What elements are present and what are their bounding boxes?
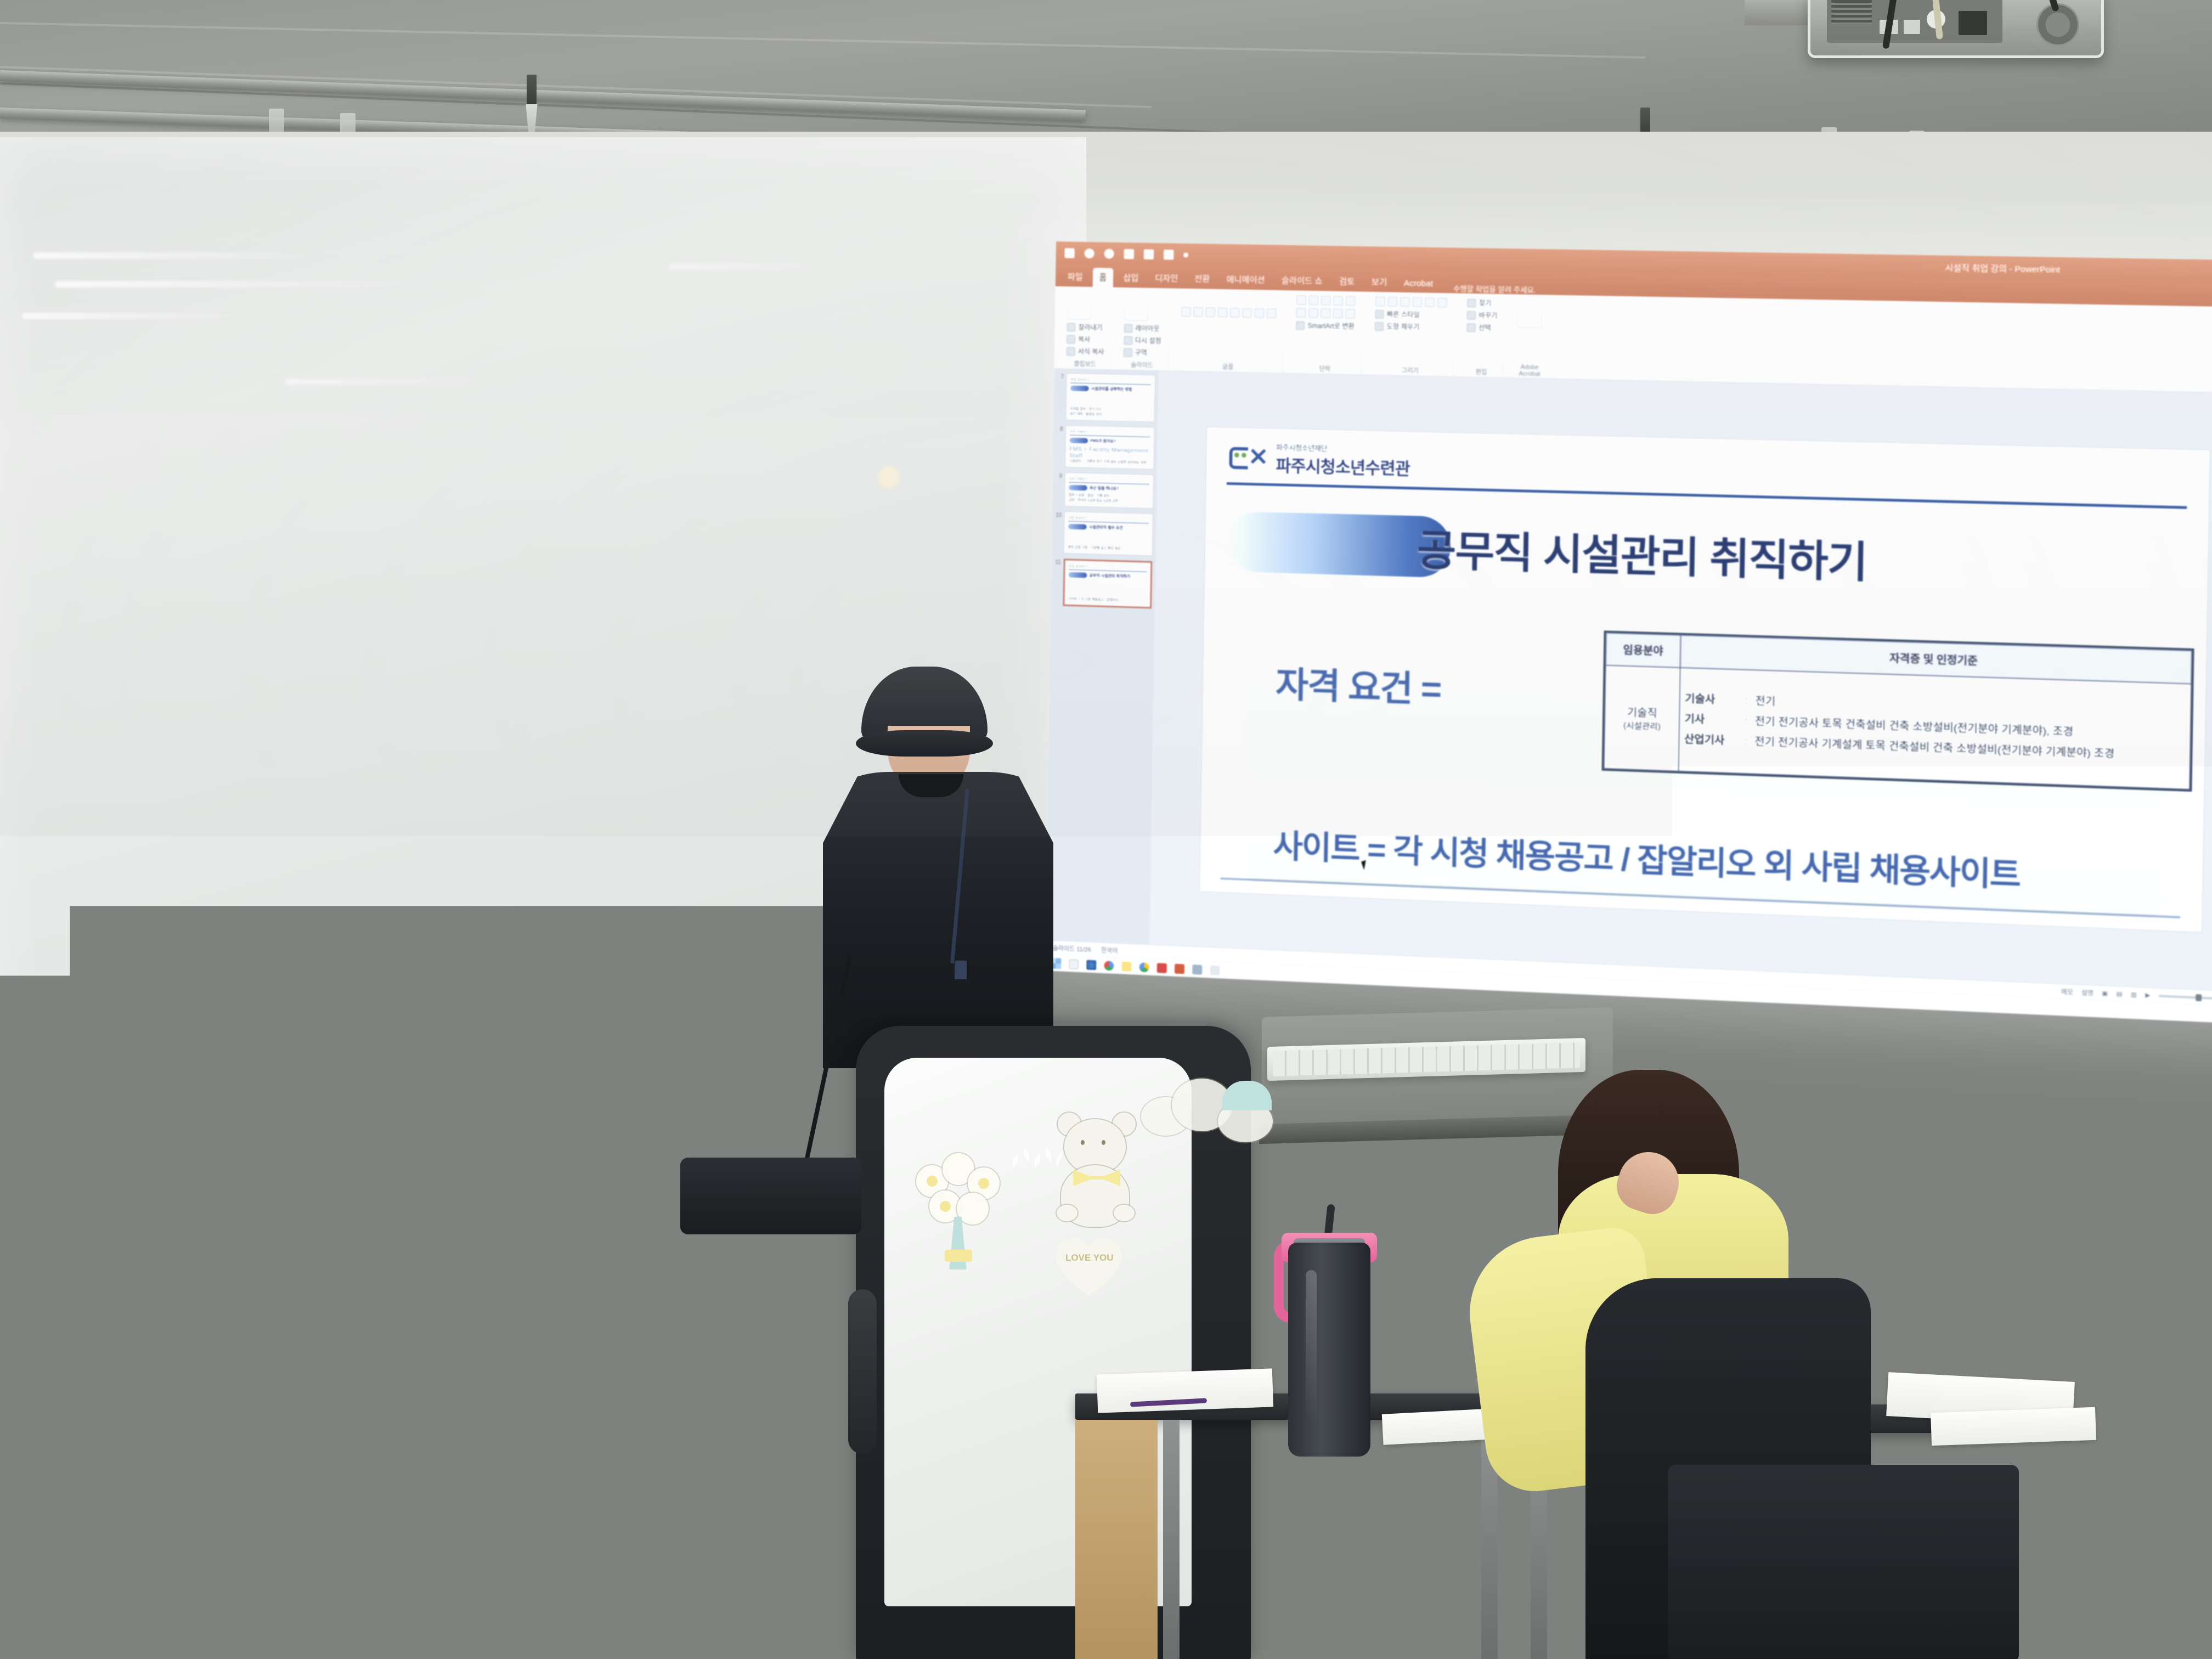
tell-me-box[interactable]: 수행할 작업을 알려 주세요. [1453,283,1536,295]
ribbon-group-label: 글꼴 [1173,361,1283,372]
ribbon-group-acrobat: Adobe Acrobat [1510,298,1551,379]
heart-shape [1048,1231,1130,1297]
thumbnail-header: 직무 이해하기 [1069,429,1150,437]
justify-icon[interactable] [1333,308,1344,319]
thumbnail-title: 시설관리를 공부하는 방법 [1091,386,1132,392]
tab-acrobat[interactable]: Acrobat [1397,275,1440,293]
papers[interactable] [1097,1368,1273,1413]
ribbon-group-label: 슬라이드 [1116,360,1167,370]
increase-indent-icon[interactable] [1333,296,1344,306]
jacket-on-chair [680,1158,861,1234]
ribbon-group-label: 단락 [1289,364,1362,374]
quick-styles-button[interactable]: 빠른 스타일 [1375,309,1447,320]
qualification-table[interactable]: 임용분야 자격증 및 인정기준 기술직 (시설관리) [1602,630,2194,792]
colon-separator: : [1745,712,1751,732]
file-explorer-icon[interactable] [1069,959,1079,969]
thumbnail-title-row: 공무직 시설관리 취직하기 [1068,572,1147,580]
whiteboard-marker[interactable] [176,1121,236,1130]
projector-vent-icon [1831,0,1872,24]
bold-icon[interactable] [1181,307,1191,317]
thumbnail-title-row: 시설관리를 공부하는 방법 [1070,386,1152,393]
colon-separator: : [1744,732,1750,752]
replace-icon [1467,311,1476,320]
thumbnail-content-block [1070,394,1151,407]
smartart-icon [1296,321,1305,330]
podium-speaker-grille-icon [848,1289,877,1454]
tab-file[interactable]: 파일 [1061,267,1090,287]
zoom-slider[interactable] [2159,995,2212,1000]
projector-mount [1745,0,1810,25]
slideshow-icon[interactable]: ▶ [2145,991,2150,999]
ribbon-group-slides: 레이아웃 다시 설정 구역 슬라이드 [1116,291,1169,370]
whiteboard-glare [55,281,439,287]
cloud-sticker [1141,1075,1284,1174]
shape-circle-icon[interactable] [1387,297,1398,307]
table-row: 기술직 (시설관리) 기술사 : 전기 [1604,665,2191,789]
align-left-icon[interactable] [1296,308,1306,318]
logo-dot [1242,453,1246,458]
slide-editing-stage[interactable]: ✕ 파주시청소년재단 파주시청소년수련관 공무직 시설관리 취직하기 자격 요 [1149,371,2212,992]
cap-brim [856,730,993,757]
logo-dot [1234,452,1239,457]
calculator-icon[interactable] [1210,965,1220,975]
quick-style-icon [1375,309,1384,319]
slide-thumbnail[interactable]: 면접 준비하기 시설관리를 공부하는 방법 자격증 준비 - 전기기사 실기 대… [1066,373,1155,422]
logo-maintext: 파주시청소년수련관 [1276,452,1410,479]
slide-title-area[interactable]: 공무직 시설관리 취직하기 [1226,511,1867,590]
slide-thumbnail[interactable]: 직무 이해하기 FMS가 뭔가요? FMS = Facility Managem… [1065,425,1155,469]
logo-text-block: 파주시청소년재단 파주시청소년수련관 [1276,441,1410,479]
comments-button[interactable]: 설명 [2081,988,2093,997]
present-icon[interactable] [1124,249,1134,259]
chrome-alt-icon[interactable] [1139,962,1149,972]
heart-sticker-text: LOVE YOU [1065,1253,1114,1263]
powerpoint-workspace: 7 면접 준비하기 시설관리를 공부하는 방법 자격증 준비 - 전기기사 실기… [1045,369,2212,992]
student-chair[interactable] [1668,1465,2019,1659]
site-panel[interactable]: 사이트 = 각 시청 채용공고 / 잡알리오 외 사립 채용사이트 [1239,793,2168,919]
ribbon-group-label: 그리기 [1367,365,1453,376]
thumbnail-number: 8 [1057,425,1063,432]
slide-thumbnail-selected[interactable]: 취업 준비하기 공무직 시설관리 취직하기 사이트 = 각 시청 채용공고 / … [1063,558,1153,608]
font-color-icon[interactable] [1266,308,1277,318]
thumbnail-line: 경력 인정 기준 - 기관별 공고 확인 필요 [1068,545,1148,552]
tab-insert[interactable]: 삽입 [1116,268,1145,288]
papers[interactable] [1931,1407,2096,1446]
title-pill-shape [1069,438,1088,444]
projector [1808,0,2104,58]
decrease-indent-icon[interactable] [1321,296,1331,306]
table-cell-criteria: 기술사 : 전기 기사 : 전기 전기공사 토목 건축설비 건축 소방설비(전기… [1679,668,2192,789]
character-spacing-icon[interactable] [1242,308,1252,318]
align-right-icon[interactable] [1321,308,1331,319]
tab-animations[interactable]: 애니메이션 [1220,270,1272,290]
cloud-teal-accent [1222,1081,1272,1110]
convert-to-smartart-button[interactable]: SmartArt로 변환 [1296,320,1355,331]
notes-button[interactable]: 메모 [2061,987,2073,997]
word-icon[interactable] [1192,964,1202,975]
rail-hanger-clip [527,75,537,106]
zoom-slider-handle[interactable] [2196,994,2202,1001]
title-pill-shape [1069,485,1087,491]
picture-icon[interactable] [1144,250,1154,259]
select-icon [1466,323,1476,332]
title-pill-shape [1068,572,1087,578]
find-button[interactable]: 찾기 [1467,298,1498,308]
edge-icon[interactable] [1086,960,1096,970]
cut-button[interactable]: 잘라내기 [1066,322,1104,332]
thumbnail-line: FMS = Facility Management Staff [1069,446,1150,461]
copy-button[interactable]: 복사 [1066,334,1104,344]
tumbler-body [1288,1243,1370,1457]
format-painter-button[interactable]: 서식 복사 [1066,346,1104,356]
align-center-icon[interactable] [1308,308,1319,318]
select-button[interactable]: 선택 [1466,323,1497,332]
thumbnail-table-block [1068,580,1147,597]
table-cell-field: 기술직 (시설관리) [1604,665,1680,771]
title-pill-shape [1070,386,1089,392]
logo-x-mark: ✕ [1248,446,1271,471]
ribbon-group-drawing: 빠른 스타일 도형 채우기 그리기 [1367,295,1454,376]
search-icon [1467,298,1476,308]
paragraph-buttons-row2[interactable] [1296,308,1355,319]
numbering-icon[interactable] [1308,295,1319,306]
tab-home[interactable]: 홈 [1092,268,1113,287]
fill-bucket-icon [1375,321,1384,331]
thumbnail-number: 7 [1057,373,1064,380]
chrome-icon[interactable] [1104,960,1114,970]
slide-thumbnail-pane[interactable]: 7 면접 준비하기 시설관리를 공부하는 방법 자격증 준비 - 전기기사 실기… [1045,369,1159,945]
certificate-name: 기사 [1684,709,1740,731]
normal-view-icon[interactable]: ▣ [2102,990,2108,997]
change-case-icon[interactable] [1254,308,1265,318]
italic-icon[interactable] [1193,307,1203,317]
acrobat-icon[interactable] [1157,963,1167,973]
shape-arrow-icon[interactable] [1400,297,1410,307]
thumbnail-header: 직무 이해하기 [1069,476,1150,485]
thumbnail-row[interactable]: 11 취업 준비하기 공무직 시설관리 취직하기 사이트 = 각 시청 채용공고… [1054,558,1153,608]
dark-bag [2030,1180,2156,1289]
desk-top [0,1339,708,1363]
thumbnail-title: FMS가 뭔가요? [1090,438,1116,444]
youth-center-logo-icon: ✕ [1229,444,1269,472]
projector-port [1959,11,1987,35]
tumbler[interactable] [1277,1210,1381,1457]
thumbnail-title-row: 시설관리직 필수 요건 [1068,524,1149,532]
requirements-label: 자격 요건 = [1276,656,1441,713]
thumbnail-title: 공무직 시설관리 취직하기 [1089,573,1130,579]
thumbnail-header: 면접 준비하기 [1070,377,1152,385]
title-pill-shape [1068,524,1087,530]
thumbnail-number: 9 [1056,472,1062,479]
shape-gallery[interactable] [1375,296,1448,308]
thumbnail-row[interactable]: 9 직무 이해하기 무슨 일을 하나요? 업무 = 순찰 · 점검 · 기록 관… [1055,472,1153,509]
thumbnail-title-row: 무슨 일을 하나요? [1069,485,1150,493]
desk-leg [1163,1420,1180,1659]
thumbnail-title: 무슨 일을 하나요? [1090,486,1119,492]
slide-header-rule [1227,482,2187,509]
projector-rear-panel [1827,0,2002,43]
slide-title: 공무직 시설관리 취직하기 [1417,516,1867,590]
document-title: 시설직 취업 강의 - PowerPoint [1945,261,2060,275]
classroom-scene: 시설직 취업 강의 - PowerPoint 파일 홈 삽입 디자인 전환 애니… [0,0,2212,1659]
undo-icon[interactable] [1084,249,1094,258]
whiteboard-marker[interactable] [61,1121,127,1130]
whiteboard-marker[interactable] [236,1121,296,1130]
bullets-icon[interactable] [1296,295,1307,305]
desk-side-panel [1075,1420,1158,1659]
paste-button[interactable] [1067,291,1092,320]
projector-port [1904,20,1920,34]
shape-fill-button[interactable]: 도형 채우기 [1375,321,1447,332]
whiteboard-marker[interactable] [362,1121,433,1130]
save-icon[interactable] [1065,248,1075,258]
reset-button[interactable]: 다시 설정 [1124,335,1161,345]
quick-access-toolbar[interactable] [1065,248,1188,260]
thumbnail-line: 실기 대비 - 동영상 강의 [1070,412,1151,419]
slide-indicator: 슬라이드 11/26 [1053,943,1091,953]
brush-icon [1066,347,1075,356]
thumbnail-row[interactable]: 10 취업 준비하기 시설관리직 필수 요건 경력 인정 기준 - 기관별 공고… [1054,511,1153,556]
whiteboard-glare [33,252,318,259]
tab-review[interactable]: 검토 [1332,272,1361,291]
more-icon[interactable] [1183,253,1188,257]
section-icon [1123,348,1132,357]
format-icon[interactable] [1164,250,1173,259]
thumbnail-title-row: FMS가 뭔가요? [1069,438,1150,445]
thumbnail-header: 취업 준비하기 [1068,515,1149,524]
language-indicator[interactable]: 한국어 [1101,945,1118,955]
section-button[interactable]: 구역 [1123,347,1161,357]
tumbler-highlight [1306,1270,1317,1424]
table-header-field: 임용분야 [1606,633,1681,668]
font-style-buttons[interactable] [1181,307,1277,318]
bear-paw [1057,1205,1077,1221]
bear-paw [1114,1205,1135,1221]
folder-icon[interactable] [1121,961,1131,972]
columns-icon[interactable] [1345,309,1356,319]
underline-icon[interactable] [1205,307,1215,317]
slide-thumbnail[interactable]: 직무 이해하기 무슨 일을 하나요? 업무 = 순찰 · 점검 · 기록 관리 … [1064,472,1153,508]
redo-icon[interactable] [1104,249,1114,258]
current-slide[interactable]: ✕ 파주시청소년재단 파주시청소년수련관 공무직 시설관리 취직하기 자격 요 [1200,427,2210,932]
slide-thumbnail[interactable]: 취업 준비하기 시설관리직 필수 요건 경력 인정 기준 - 기관별 공고 확인… [1064,511,1153,556]
copy-icon [1066,335,1075,343]
lanyard-badge [955,961,967,979]
sorter-view-icon[interactable]: ▤ [2116,990,2122,998]
whiteboard-light-spot [878,466,900,488]
certificate-detail: 전기 [1755,691,1775,712]
shape-rectangle-icon[interactable] [1375,296,1386,307]
tab-slideshow[interactable]: 슬라이드 쇼 [1274,271,1329,291]
logo-bracket [1229,447,1248,469]
whiteboard-glare [669,263,812,270]
certificate-name: 기술사 [1685,689,1740,711]
olive-coat-on-chair [10,1401,171,1650]
powerpoint-icon[interactable] [1175,963,1184,974]
thumbnail-title: 시설관리직 필수 요건 [1089,524,1123,531]
certificate-name: 산업기사 [1684,730,1740,752]
projected-powerpoint-window[interactable]: 시설직 취업 강의 - PowerPoint 파일 홈 삽입 디자인 전환 애니… [1045,241,2212,1024]
heart-sticker: LOVE YOU [1037,1223,1147,1311]
scissors-icon [1066,323,1075,331]
reading-view-icon[interactable]: ▥ [2131,991,2137,998]
ribbon-group-label: 클립보드 [1059,359,1110,369]
chair[interactable] [0,1174,143,1234]
bouquet-ribbon [945,1250,972,1262]
ribbon-group-clipboard: 잘라내기 복사 서식 복사 클립보드 [1059,290,1112,369]
create-pdf-button[interactable] [1517,299,1542,329]
whiteboard-glare [285,379,483,385]
text-shadow-icon[interactable] [1217,307,1227,317]
ribbon-group-font: 글꼴 [1173,292,1284,373]
shape-line-icon[interactable] [1412,297,1423,307]
ribbon-group-editing: 찾기 바꾸기 선택 편집 [1459,297,1505,377]
replace-button[interactable]: 바꾸기 [1467,311,1498,320]
requirements-panel[interactable]: 자격 요건 = 임용분야 자격증 및 인정기준 기술직 [1241,605,2171,810]
desk-top [0,1274,708,1297]
flower-bouquet-sticker [911,1147,1009,1273]
ribbon-group-label: Adobe Acrobat [1510,364,1550,378]
field-name: 기술직 [1610,703,1674,721]
thumbnail-number: 10 [1055,511,1062,518]
thumbnail-number: 11 [1054,558,1061,566]
thumbnail-line: 사이트 = 각 시청 채용공고 / 잡알리오 [1068,597,1147,604]
shape-more-icon[interactable] [1437,297,1447,308]
thumbnail-row[interactable]: 7 면접 준비하기 시설관리를 공부하는 방법 자격증 준비 - 전기기사 실기… [1057,373,1155,422]
layout-button[interactable]: 레이아웃 [1124,323,1161,333]
tab-design[interactable]: 디자인 [1148,269,1184,289]
whiteboard-glare [22,313,258,319]
tab-transitions[interactable]: 전환 [1188,269,1217,289]
line-spacing-icon[interactable] [1345,296,1356,306]
reset-icon [1124,336,1132,345]
tab-view[interactable]: 보기 [1364,272,1393,292]
field-subname: (시설관리) [1610,719,1674,732]
qualification-table-element: 임용분야 자격증 및 인정기준 기술직 (시설관리) [1604,633,2192,790]
strikethrough-icon[interactable] [1230,308,1240,318]
organization-logo: ✕ 파주시청소년재단 파주시청소년수련관 [1229,440,1410,479]
font-name-input[interactable] [1181,293,1248,305]
ribbon-group-paragraph: SmartArt로 변환 단락 [1288,294,1363,375]
colon-separator: : [1745,691,1751,712]
thumbnail-content-block [1068,532,1149,545]
ribbon-group-label: 편집 [1459,367,1504,377]
new-slide-button[interactable] [1124,292,1148,321]
thumbnail-row[interactable]: 8 직무 이해하기 FMS가 뭔가요? FMS = Facility Manag… [1056,425,1155,469]
shape-star-icon[interactable] [1425,297,1435,308]
paragraph-buttons-row1[interactable] [1296,295,1356,306]
thumbnail-header: 취업 준비하기 [1069,563,1148,572]
layout-icon [1124,324,1132,332]
